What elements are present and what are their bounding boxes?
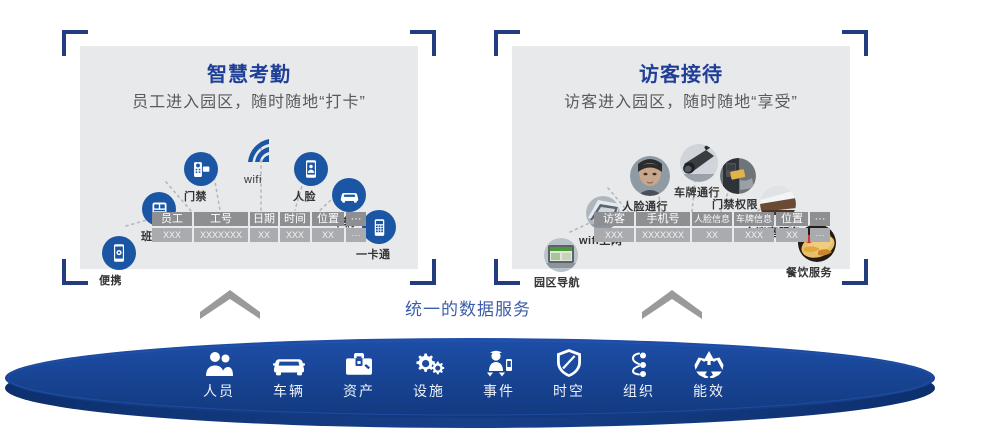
bar-item-asset[interactable]: 资产	[322, 344, 396, 401]
node-label: 一卡通	[356, 246, 391, 262]
corner-bracket-bottom-left	[62, 259, 88, 285]
node-access-permission[interactable]: 门禁权限	[720, 158, 756, 194]
bar-item-incident[interactable]: 事件	[462, 344, 536, 401]
table-value-cell: XX	[692, 228, 732, 242]
unified-data-service-label: 统一的数据服务	[378, 295, 558, 320]
mobile-app-icon	[102, 236, 136, 270]
bar-item-label: 车辆	[252, 381, 326, 401]
table-value-cell: XX	[250, 228, 278, 242]
bar-item-label: 资产	[322, 381, 396, 401]
corner-bracket-top-right	[842, 30, 868, 56]
table-value-cell: XXX	[152, 228, 192, 242]
bar-item-people[interactable]: 人员	[182, 344, 256, 401]
wifi-icon	[238, 132, 280, 174]
bar-item-label: 能效	[672, 381, 746, 401]
face-photo	[630, 156, 670, 196]
gears-icon	[392, 344, 466, 378]
node-access-control[interactable]: 门禁	[184, 152, 218, 186]
chevron-up-icon-right	[640, 288, 704, 320]
visitor-data-table: 访客 手机号 人脸信息 车牌信息 位置 ··· XXX XXXXXXX XX X…	[594, 212, 830, 242]
attendance-data-table: 员工 工号 日期 时间 位置 ··· XXX XXXXXXX XX XXX XX…	[152, 212, 366, 242]
panel-title: 访客接待	[512, 58, 850, 87]
table-header-cell: 员工	[152, 212, 192, 226]
unified-platform-bar: 人员 车辆	[0, 322, 989, 436]
infographic-canvas: 智慧考勤 员工进入园区，随时随地“打卡”	[0, 0, 989, 436]
bar-item-label: 设施	[392, 381, 466, 401]
bar-item-spacetime[interactable]: 时空	[532, 344, 606, 401]
corner-bracket-top-left	[494, 30, 520, 56]
bar-item-label: 组织	[602, 381, 676, 401]
bar-item-facility[interactable]: 设施	[392, 344, 466, 401]
car-icon	[332, 178, 366, 212]
table-header-cell: 车牌信息	[734, 212, 774, 226]
recycle-icon	[672, 344, 746, 378]
table-header-cell: 位置	[776, 212, 808, 226]
table-value-cell: XXXXXXX	[636, 228, 690, 242]
table-value-cell: XXX	[594, 228, 634, 242]
anpr-camera-photo	[680, 144, 718, 182]
table-header-cell: 时间	[280, 212, 310, 226]
table-header-cell: 访客	[594, 212, 634, 226]
toolbox-icon	[322, 344, 396, 378]
bar-item-vehicle[interactable]: 车辆	[252, 344, 326, 401]
table-value-cell: ···	[810, 228, 830, 242]
table-value-cell: ···	[346, 228, 366, 242]
node-campus-navigation[interactable]: 园区导航	[544, 238, 578, 272]
card-reader-photo	[720, 158, 756, 194]
incident-icon	[462, 344, 536, 378]
node-face-pass[interactable]: 人脸通行	[630, 156, 670, 196]
tablet-map-photo	[544, 238, 578, 272]
node-plate-pass[interactable]: 车牌通行	[680, 144, 718, 182]
node-label: 门禁权限	[712, 196, 758, 212]
node-portable[interactable]: 便携	[102, 236, 136, 270]
chevron-up-icon-left	[198, 288, 262, 320]
node-label: 园区导航	[534, 274, 580, 290]
table-header-cell: 位置	[312, 212, 344, 226]
corner-bracket-bottom-right	[410, 259, 436, 285]
table-value-cell: XXX	[734, 228, 774, 242]
node-vehicle[interactable]: 车辆	[332, 178, 366, 212]
bar-item-organization[interactable]: 组织	[602, 344, 676, 401]
table-header-row: 员工 工号 日期 时间 位置 ···	[152, 212, 366, 226]
corner-bracket-top-left	[62, 30, 88, 56]
corner-bracket-bottom-left	[494, 259, 520, 285]
access-control-icon	[184, 152, 218, 186]
node-label: 门禁	[184, 188, 207, 204]
node-face[interactable]: 人脸	[294, 152, 328, 186]
panel-title: 智慧考勤	[80, 58, 418, 87]
node-smart-card[interactable]: 一卡通	[362, 210, 396, 244]
people-icon	[182, 344, 256, 378]
service-bar-items: 人员 车辆	[0, 322, 989, 436]
node-label: 人脸	[293, 188, 316, 204]
table-value-row: XXX XXXXXXX XX XXX XX ···	[594, 228, 830, 242]
table-value-row: XXX XXXXXXX XX XXX XX ···	[152, 228, 366, 242]
table-value-cell: XX	[776, 228, 808, 242]
vehicle-icon	[252, 344, 326, 378]
table-value-cell: XXXXXXX	[194, 228, 248, 242]
table-header-cell: ···	[810, 212, 830, 226]
table-value-cell: XXX	[280, 228, 310, 242]
node-label: wifi	[244, 174, 262, 186]
table-header-cell: 手机号	[636, 212, 690, 226]
face-recognition-icon	[294, 152, 328, 186]
corner-bracket-top-right	[410, 30, 436, 56]
table-header-cell: ···	[346, 212, 366, 226]
node-label: 餐饮服务	[786, 264, 832, 280]
org-network-icon	[602, 344, 676, 378]
panel-subtitle: 员工进入园区，随时随地“打卡”	[80, 88, 418, 112]
bar-item-label: 事件	[462, 381, 536, 401]
bar-item-efficiency[interactable]: 能效	[672, 344, 746, 401]
bar-item-label: 人员	[182, 381, 256, 401]
table-header-row: 访客 手机号 人脸信息 车牌信息 位置 ···	[594, 212, 830, 226]
table-value-cell: XX	[312, 228, 344, 242]
table-header-cell: 工号	[194, 212, 248, 226]
corner-bracket-bottom-right	[842, 259, 868, 285]
node-label: 便携	[99, 272, 122, 288]
node-wifi[interactable]: wifi	[238, 132, 280, 174]
bar-item-label: 时空	[532, 381, 606, 401]
smart-card-phone-icon	[362, 210, 396, 244]
table-header-cell: 人脸信息	[692, 212, 732, 226]
panel-subtitle: 访客进入园区，随时随地“享受”	[512, 88, 850, 112]
table-header-cell: 日期	[250, 212, 278, 226]
shield-icon	[532, 344, 606, 378]
